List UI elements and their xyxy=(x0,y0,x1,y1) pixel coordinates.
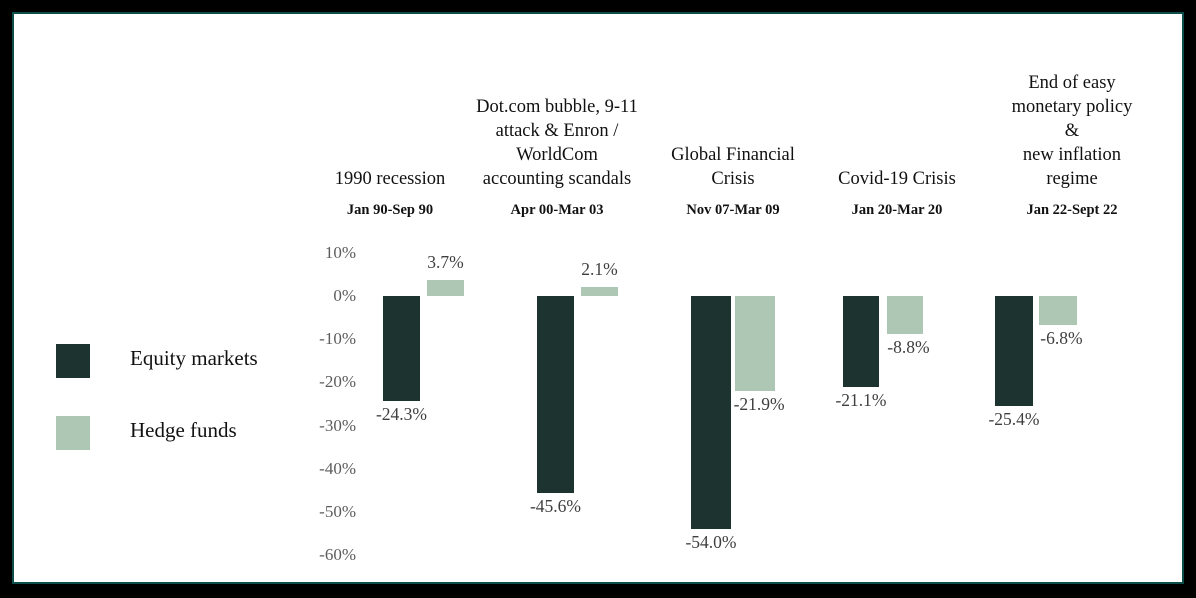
bar-hedge-funds[interactable] xyxy=(1039,296,1077,325)
y-tick-label: -50% xyxy=(298,502,356,522)
group-period: Jan 22-Sept 22 xyxy=(1004,202,1140,219)
y-tick-label: -30% xyxy=(298,416,356,436)
y-tick-label: -10% xyxy=(298,329,356,349)
y-tick-label: 10% xyxy=(298,243,356,263)
bar-hedge-funds[interactable] xyxy=(735,296,775,391)
legend-swatch-hedge-funds xyxy=(56,416,90,450)
group-period: Nov 07-Mar 09 xyxy=(655,202,811,219)
group-header: End of easy monetary policy & new inflat… xyxy=(1004,14,1140,227)
legend-item-equity-markets: Equity markets xyxy=(56,344,296,416)
bar-hedge-funds[interactable] xyxy=(581,287,618,296)
legend-label-equity-markets: Equity markets xyxy=(130,346,258,371)
legend-item-hedge-funds: Hedge funds xyxy=(56,416,296,488)
bar-equity-markets[interactable] xyxy=(691,296,731,529)
group-title: 1990 recession xyxy=(315,167,465,191)
group-period: Jan 90-Sep 90 xyxy=(315,202,465,219)
bar-label-hedge-funds: 3.7% xyxy=(427,252,463,273)
group-title: End of easy monetary policy & new inflat… xyxy=(1004,71,1140,191)
legend-swatch-equity-markets xyxy=(56,344,90,378)
chart-frame: 10%0%-10%-20%-30%-40%-50%-60% Equity mar… xyxy=(12,12,1184,584)
bar-label-equity-markets: -45.6% xyxy=(530,496,581,517)
y-tick-label: -60% xyxy=(298,545,356,565)
group-title: Global Financial Crisis xyxy=(655,143,811,191)
bar-label-hedge-funds: 2.1% xyxy=(581,259,617,280)
bar-label-equity-markets: -24.3% xyxy=(376,404,427,425)
bar-label-equity-markets: -54.0% xyxy=(685,532,736,553)
group-header: Dot.com bubble, 9-11 attack & Enron / Wo… xyxy=(468,14,646,227)
bar-equity-markets[interactable] xyxy=(383,296,420,401)
bar-hedge-funds[interactable] xyxy=(427,280,464,296)
bar-equity-markets[interactable] xyxy=(843,296,879,387)
y-tick-label: -40% xyxy=(298,459,356,479)
bar-equity-markets[interactable] xyxy=(995,296,1033,406)
y-tick-label: -20% xyxy=(298,372,356,392)
group-header: 1990 recessionJan 90-Sep 90 xyxy=(315,14,465,227)
chart-canvas: 10%0%-10%-20%-30%-40%-50%-60% Equity mar… xyxy=(14,14,1182,582)
y-tick-label: 0% xyxy=(298,286,356,306)
group-title: Covid-19 Crisis xyxy=(817,167,977,191)
legend-label-hedge-funds: Hedge funds xyxy=(130,418,237,443)
bar-equity-markets[interactable] xyxy=(537,296,574,493)
chart-legend: Equity markets Hedge funds xyxy=(56,344,296,488)
bar-hedge-funds[interactable] xyxy=(887,296,923,334)
bar-label-hedge-funds: -8.8% xyxy=(887,337,929,358)
bar-label-equity-markets: -25.4% xyxy=(988,409,1039,430)
group-header: Global Financial CrisisNov 07-Mar 09 xyxy=(655,14,811,227)
group-title: Dot.com bubble, 9-11 attack & Enron / Wo… xyxy=(468,95,646,191)
bar-label-equity-markets: -21.1% xyxy=(835,390,886,411)
group-header: Covid-19 CrisisJan 20-Mar 20 xyxy=(817,14,977,227)
bar-label-hedge-funds: -21.9% xyxy=(734,394,785,415)
group-period: Jan 20-Mar 20 xyxy=(817,202,977,219)
group-period: Apr 00-Mar 03 xyxy=(468,202,646,219)
bar-label-hedge-funds: -6.8% xyxy=(1040,328,1082,349)
